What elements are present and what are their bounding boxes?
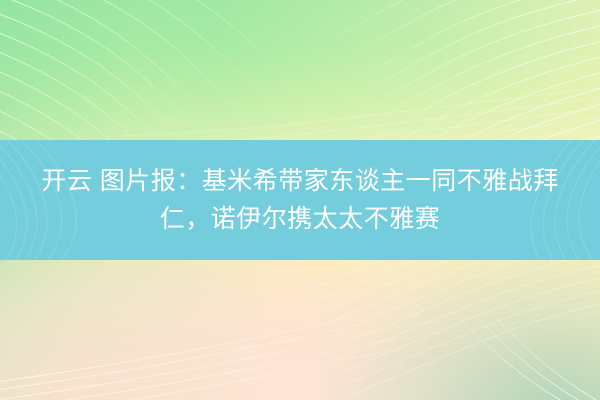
wave-group-mid-body (20, 300, 600, 390)
title-band: 开云 图片报：基米希带家东谈主一同不雅战拜仁，诺伊尔携太太不雅赛 (0, 140, 600, 260)
banner-title: 开云 图片报：基米希带家东谈主一同不雅战拜仁，诺伊尔携太太不雅赛 (20, 162, 580, 238)
banner-title-line-2: 仁，诺伊尔携太太不雅赛 (160, 205, 441, 233)
peach-bloom-overlay (0, 250, 380, 400)
banner-title-line-1: 开云 图片报：基米希带家东谈主一同不雅战拜 (41, 167, 558, 195)
banner-canvas: 开云 图片报：基米希带家东谈主一同不雅战拜仁，诺伊尔携太太不雅赛 (0, 0, 600, 400)
wave-group-bottom-left (0, 274, 564, 400)
